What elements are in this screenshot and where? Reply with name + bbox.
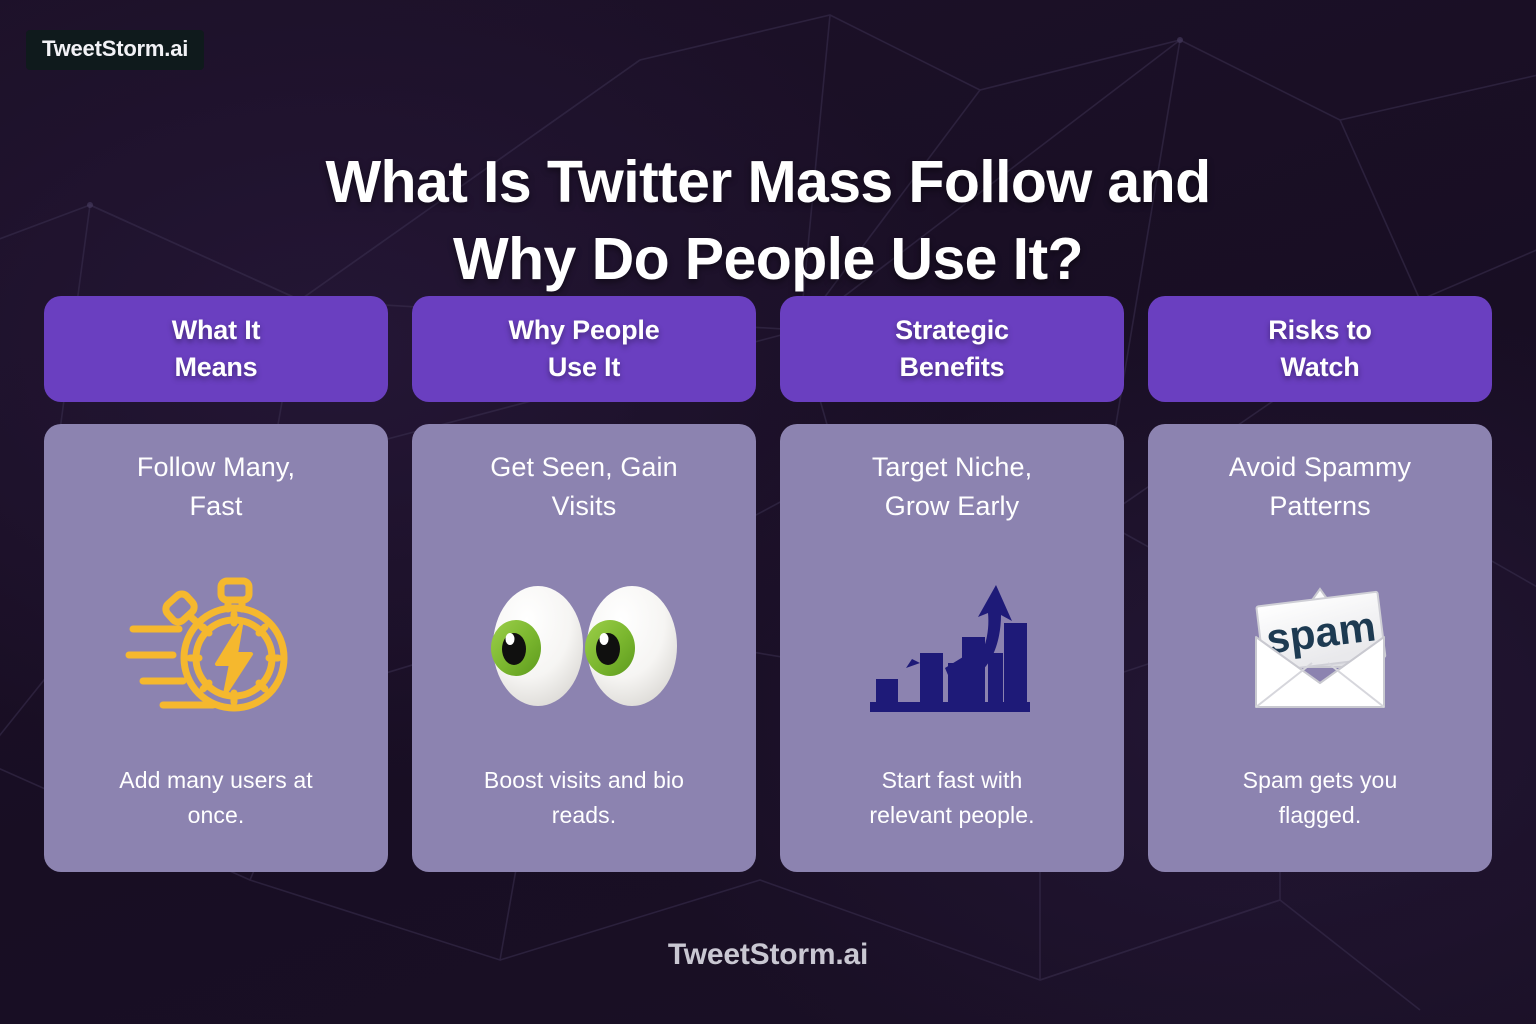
card-column-strategic-benefits: Strategic Benefits Target Niche, Grow Ea…: [780, 296, 1124, 872]
card-header-why-people-use-it[interactable]: Why People Use It: [412, 296, 756, 402]
card-subtitle-line-2: Fast: [190, 491, 243, 521]
card-caption: Add many users at once.: [119, 763, 312, 846]
card-subtitle: Get Seen, Gain Visits: [490, 448, 678, 528]
card-body-what-it-means: Follow Many, Fast: [44, 424, 388, 872]
card-header-line-1: Risks to: [1268, 315, 1371, 345]
card-caption-line-2: relevant people.: [869, 802, 1034, 828]
card-caption-line-2: flagged.: [1279, 802, 1362, 828]
card-caption-line-2: once.: [188, 802, 245, 828]
brand-logo-label: TweetStorm.ai: [42, 36, 188, 61]
card-column-risks-to-watch: Risks to Watch Avoid Spammy Patterns: [1148, 296, 1492, 872]
card-caption: Spam gets you flagged.: [1243, 763, 1398, 846]
card-body-why-people-use-it: Get Seen, Gain Visits: [412, 424, 756, 872]
stopwatch-speed-icon: [121, 571, 311, 721]
card-header-risks-to-watch[interactable]: Risks to Watch: [1148, 296, 1492, 402]
eyes-icon: [486, 571, 682, 721]
card-header-what-it-means[interactable]: What It Means: [44, 296, 388, 402]
card-header-strategic-benefits[interactable]: Strategic Benefits: [780, 296, 1124, 402]
card-header-line-1: What It: [172, 315, 261, 345]
brand-logo-badge: TweetStorm.ai: [26, 30, 204, 70]
card-subtitle-line-2: Grow Early: [885, 491, 1020, 521]
card-caption-line-2: reads.: [552, 802, 617, 828]
card-header-line-2: Watch: [1281, 352, 1360, 382]
card-subtitle-line-1: Get Seen, Gain: [490, 452, 678, 482]
card-caption-line-1: Spam gets you: [1243, 767, 1398, 793]
card-header-line-2: Means: [174, 352, 257, 382]
card-subtitle-line-1: Target Niche,: [872, 452, 1032, 482]
card-caption: Boost visits and bio reads.: [484, 763, 684, 846]
card-grid: What It Means Follow Many, Fast: [44, 296, 1492, 872]
card-subtitle-line-1: Follow Many,: [137, 452, 295, 482]
card-column-what-it-means: What It Means Follow Many, Fast: [44, 296, 388, 872]
card-subtitle-line-2: Visits: [552, 491, 617, 521]
footer-brand-label: TweetStorm.ai: [0, 938, 1536, 972]
card-header-line-1: Strategic: [895, 315, 1009, 345]
spam-envelope-icon: spam: [1230, 571, 1410, 721]
card-header-line-2: Use It: [548, 352, 620, 382]
card-icon-slot: [66, 528, 366, 763]
card-body-strategic-benefits: Target Niche, Grow Early: [780, 424, 1124, 872]
card-icon-slot: [434, 528, 734, 763]
card-caption-line-1: Boost visits and bio: [484, 767, 684, 793]
card-caption-line-1: Add many users at: [119, 767, 312, 793]
infographic-poster: TweetStorm.ai What Is Twitter Mass Follo…: [0, 0, 1536, 1024]
page-title-line-2: Why Do People Use It?: [120, 221, 1416, 299]
card-header-line-1: Why People: [508, 315, 659, 345]
card-icon-slot: [802, 528, 1102, 763]
card-subtitle-line-2: Patterns: [1269, 491, 1370, 521]
card-caption: Start fast with relevant people.: [869, 763, 1034, 846]
growth-bar-chart-icon: [862, 571, 1042, 721]
page-title: What Is Twitter Mass Follow and Why Do P…: [0, 144, 1536, 300]
page-title-line-1: What Is Twitter Mass Follow and: [120, 144, 1416, 222]
card-body-risks-to-watch: Avoid Spammy Patterns: [1148, 424, 1492, 872]
card-column-why-people-use-it: Why People Use It Get Seen, Gain Visits: [412, 296, 756, 872]
card-subtitle-line-1: Avoid Spammy: [1229, 452, 1411, 482]
card-subtitle: Follow Many, Fast: [137, 448, 295, 528]
card-icon-slot: spam: [1170, 528, 1470, 763]
card-subtitle: Avoid Spammy Patterns: [1229, 448, 1411, 528]
card-caption-line-1: Start fast with: [882, 767, 1023, 793]
card-header-line-2: Benefits: [900, 352, 1005, 382]
card-subtitle: Target Niche, Grow Early: [872, 448, 1032, 528]
